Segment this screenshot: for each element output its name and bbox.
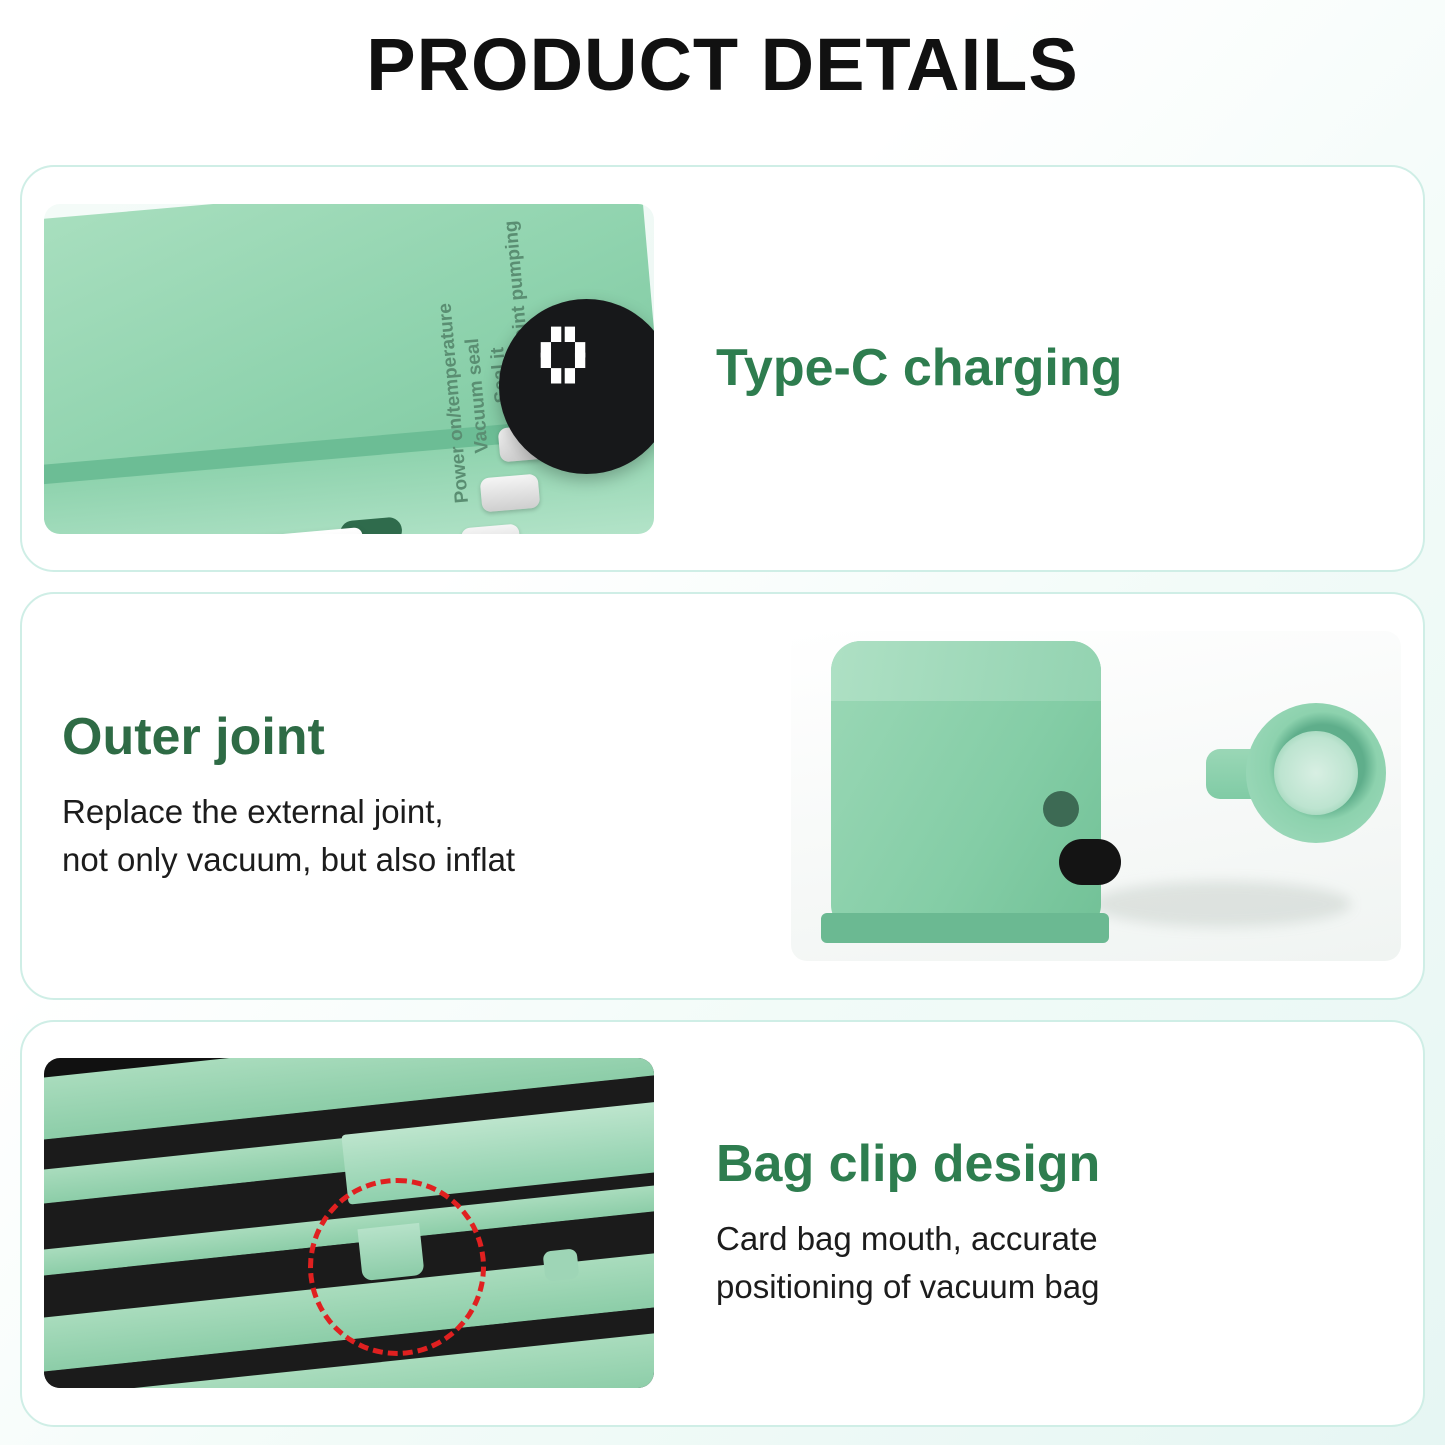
type-c-charging-text: Type-C charging xyxy=(676,340,1423,397)
section-body-line: not only vacuum, but also inflat xyxy=(62,836,729,884)
bag-clip-text: Bag clip design Card bag mouth, accurate… xyxy=(676,1136,1423,1311)
sealer-body-base xyxy=(821,913,1109,943)
clip-stud xyxy=(543,1249,580,1282)
outer-joint-text: Outer joint Replace the external joint, … xyxy=(22,709,769,884)
section-heading: Outer joint xyxy=(62,709,729,766)
funnel-inner-ring xyxy=(1274,731,1358,815)
section-body-line: positioning of vacuum bag xyxy=(716,1263,1383,1311)
device-button-2 xyxy=(480,473,541,512)
section-card-type-c-charging: Power on/temperature Vacuum seal Seal it… xyxy=(20,165,1425,572)
section-body: Card bag mouth, accurate positioning of … xyxy=(716,1215,1383,1311)
section-heading: Bag clip design xyxy=(716,1136,1383,1193)
page-title: PRODUCT DETAILS xyxy=(0,0,1445,102)
product-details-page: PRODUCT DETAILS Power on/temperature Vac… xyxy=(0,0,1445,1445)
dial-pattern-icon: ▞▚▚▞ xyxy=(541,329,651,409)
section-body-line: Card bag mouth, accurate xyxy=(716,1215,1383,1263)
sealer-body-top xyxy=(831,641,1101,701)
bag-clip-photo xyxy=(44,1058,654,1388)
section-body-line: Replace the external joint, xyxy=(62,788,729,836)
sections-list: Power on/temperature Vacuum seal Seal it… xyxy=(20,165,1425,1427)
outer-joint-photo xyxy=(791,631,1401,961)
section-body: Replace the external joint, not only vac… xyxy=(62,788,729,884)
highlight-circle-annotation xyxy=(308,1178,486,1356)
black-nozzle xyxy=(1059,839,1121,885)
type-c-charging-photo: Power on/temperature Vacuum seal Seal it… xyxy=(44,204,654,534)
section-card-bag-clip-design: Bag clip design Card bag mouth, accurate… xyxy=(20,1020,1425,1427)
joint-socket xyxy=(1043,791,1079,827)
product-shadow xyxy=(1091,881,1351,927)
section-heading: Type-C charging xyxy=(716,340,1383,397)
section-card-outer-joint: Outer joint Replace the external joint, … xyxy=(20,592,1425,999)
